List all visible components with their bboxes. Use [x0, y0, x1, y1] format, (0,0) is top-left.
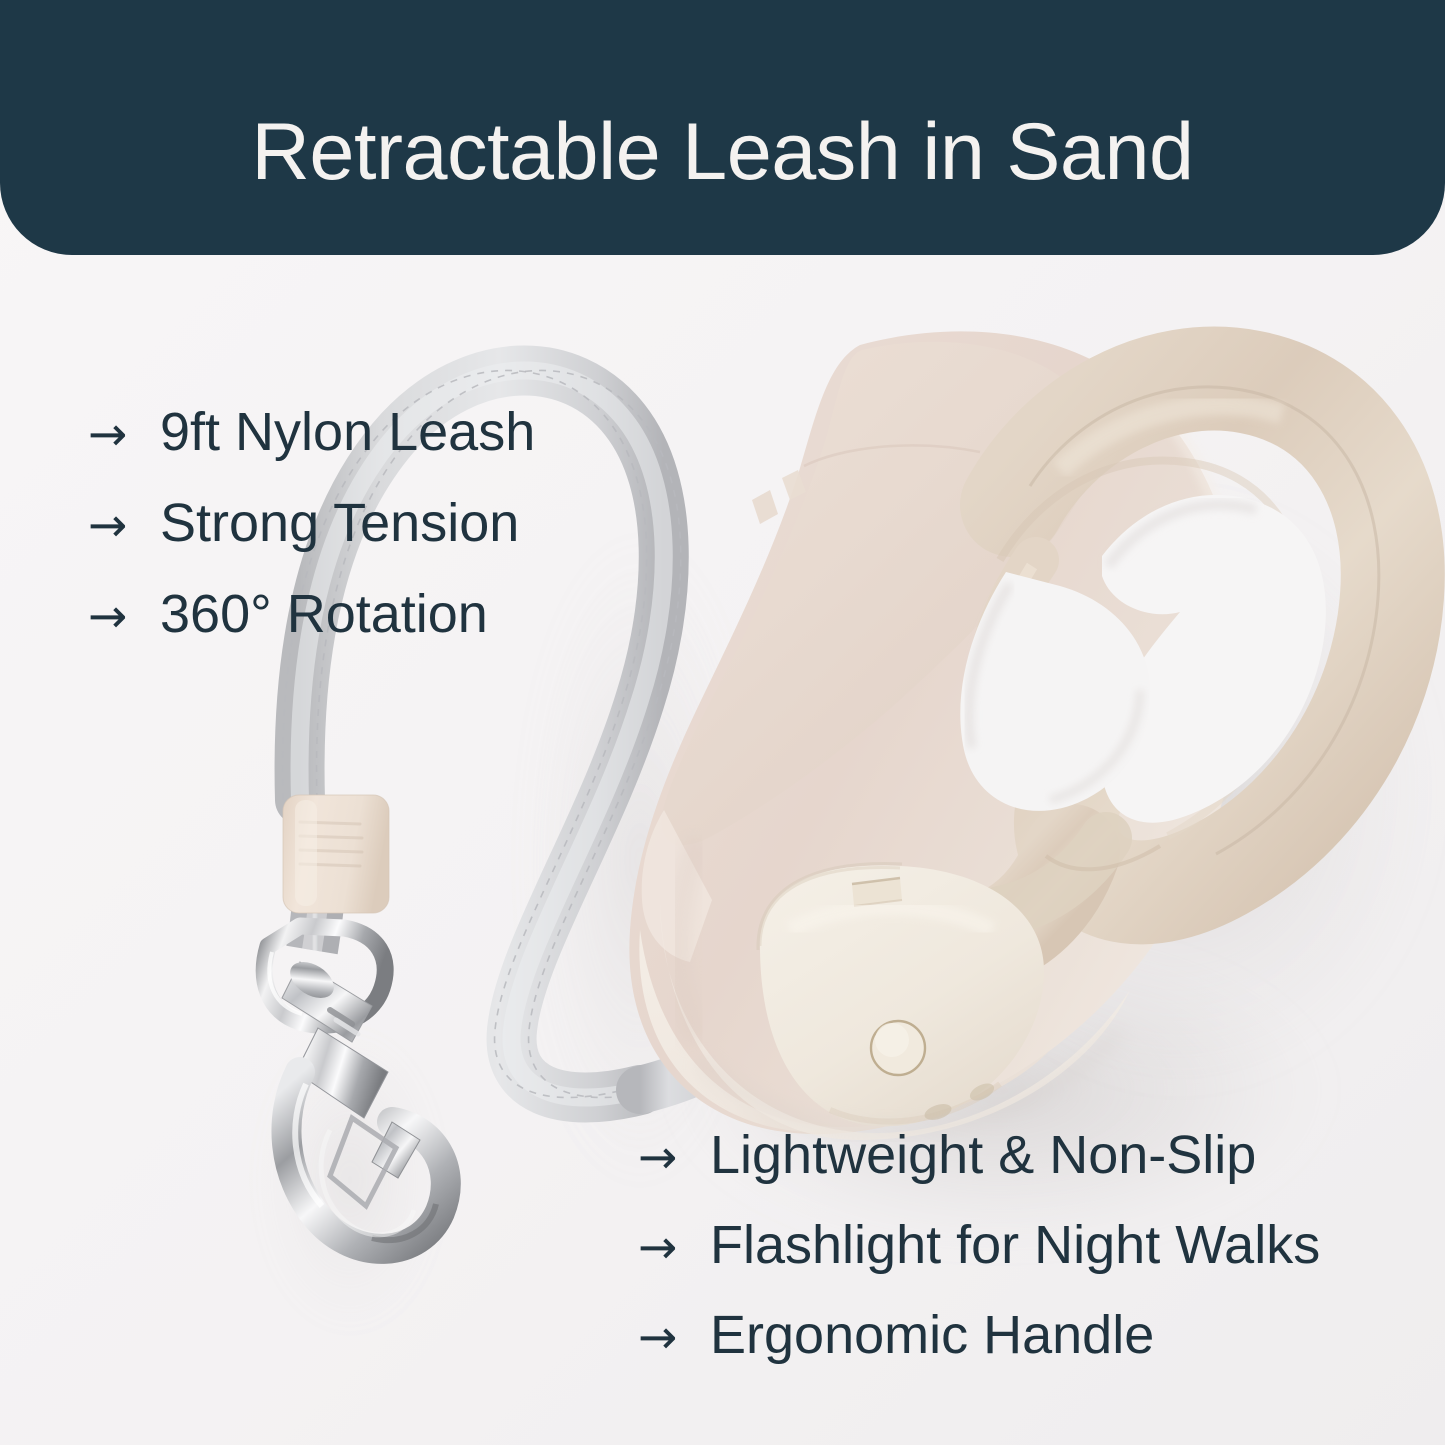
feature-item: → Strong Tension: [88, 496, 535, 550]
header-banner: Retractable Leash in Sand: [0, 0, 1445, 255]
arrow-right-icon: →: [88, 593, 160, 640]
arrow-right-icon: →: [88, 502, 160, 549]
feature-item: → Ergonomic Handle: [638, 1308, 1320, 1362]
feature-label: 9ft Nylon Leash: [160, 405, 535, 459]
feature-label: 360° Rotation: [160, 587, 488, 641]
feature-label: Lightweight & Non-Slip: [710, 1128, 1256, 1182]
feature-label: Flashlight for Night Walks: [710, 1218, 1320, 1272]
feature-item: → 9ft Nylon Leash: [88, 405, 535, 459]
feature-item: → 360° Rotation: [88, 587, 535, 641]
infographic-canvas: Retractable Leash in Sand → 9ft Nylon Le…: [0, 0, 1445, 1445]
feature-list-right: → Lightweight & Non-Slip → Flashlight fo…: [638, 1128, 1320, 1398]
arrow-right-icon: →: [88, 411, 160, 458]
page-title: Retractable Leash in Sand: [251, 112, 1193, 193]
arrow-right-icon: →: [638, 1134, 710, 1181]
arrow-right-icon: →: [638, 1224, 710, 1271]
flashlight-button[interactable]: [871, 1021, 925, 1075]
feature-label: Strong Tension: [160, 496, 519, 550]
feature-label: Ergonomic Handle: [710, 1308, 1154, 1362]
feature-item: → Flashlight for Night Walks: [638, 1218, 1320, 1272]
feature-list-left: → 9ft Nylon Leash → Strong Tension → 360…: [88, 405, 535, 678]
strap-sleeve: [283, 795, 389, 913]
arrow-right-icon: →: [638, 1314, 710, 1361]
feature-item: → Lightweight & Non-Slip: [638, 1128, 1320, 1182]
